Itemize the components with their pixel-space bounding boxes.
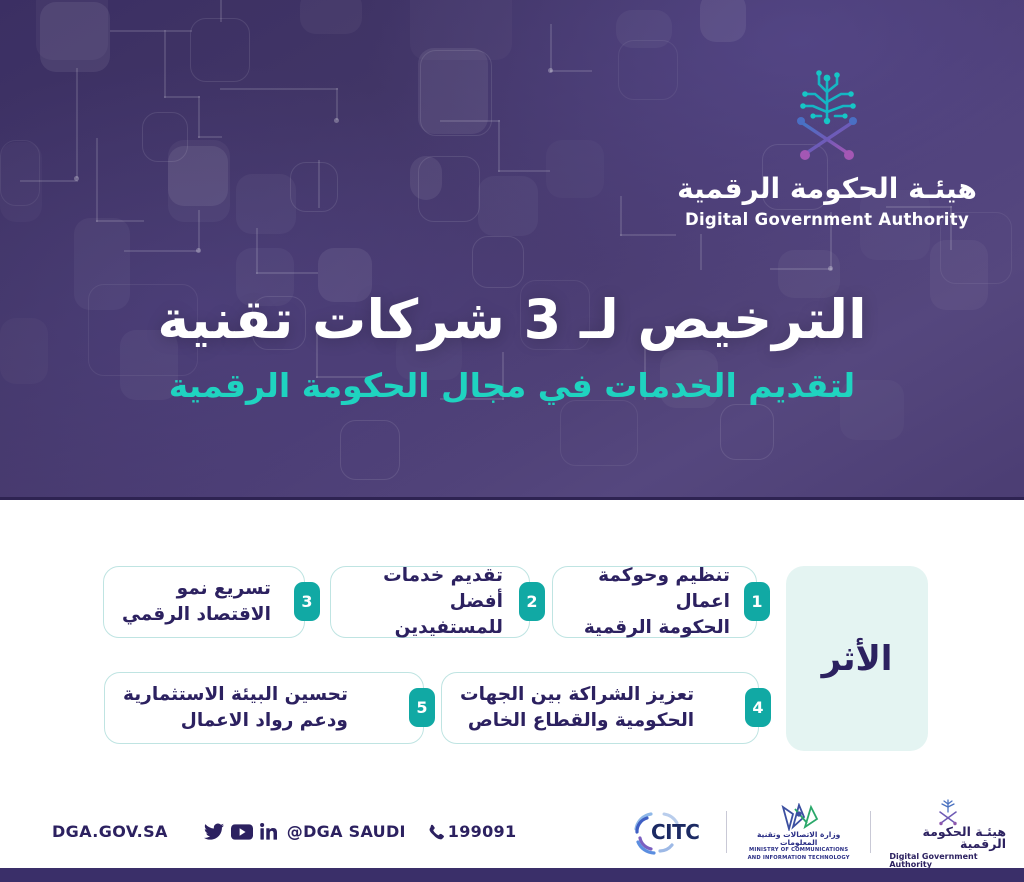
dga-footer-english: Digital Government Authority bbox=[889, 853, 1006, 869]
citc-logo-mark: CITC bbox=[630, 807, 708, 857]
impact-card-2-text: تقديم خدمات أفضل للمستفيدين bbox=[349, 563, 503, 642]
impact-card-5-text: تحسين البيئة الاستثمارية ودعم رواد الاعم… bbox=[123, 682, 348, 735]
website-link[interactable]: DGA.GOV.SA bbox=[52, 822, 168, 841]
linkedin-icon[interactable] bbox=[260, 823, 277, 840]
header-banner: هيئـة الحكومة الرقمية Digital Government… bbox=[0, 0, 1024, 500]
impact-card-1-text: تنظيم وحوكمة اعمال الحكومة الرقمية bbox=[571, 563, 730, 642]
page-subtitle: لتقديم الخدمات في مجال الحكومة الرقمية bbox=[0, 366, 1024, 406]
impact-card-4-badge: 4 bbox=[745, 688, 771, 727]
phone-contact: 199091 bbox=[428, 822, 517, 841]
twitter-icon[interactable] bbox=[204, 823, 224, 840]
mcit-logo: وزارة الاتصالات وتقنية المعلومات MINISTR… bbox=[727, 800, 871, 864]
mcit-emblem bbox=[777, 803, 821, 831]
impact-card-2[interactable]: تقديم خدمات أفضل للمستفيدين bbox=[330, 566, 530, 638]
mcit-english-line2: AND INFORMATION TECHNOLOGY bbox=[745, 856, 853, 861]
impact-card-5-badge: 5 bbox=[409, 688, 435, 727]
page-title: الترخيص لـ 3 شركات تقنية bbox=[0, 288, 1024, 352]
dga-footer-arabic: هيئـة الحكومة الرقمية bbox=[889, 826, 1006, 851]
impact-card-1[interactable]: تنظيم وحوكمة اعمال الحكومة الرقمية bbox=[552, 566, 757, 638]
impact-card-4-text: تعزيز الشراكة بين الجهات الحكومية والقطا… bbox=[460, 682, 694, 735]
mcit-english-line1: MINISTRY OF COMMUNICATIONS bbox=[745, 848, 853, 853]
dga-palm-swords-emblem bbox=[783, 62, 871, 160]
phone-number: 199091 bbox=[448, 822, 517, 841]
dga-logo-arabic-text: هيئـة الحكومة الرقمية bbox=[677, 174, 977, 205]
dga-logo-footer: هيئـة الحكومة الرقمية Digital Government… bbox=[871, 800, 1024, 864]
partner-logos: CITC وزارة الاتصالات وتقنية المعلومات MI… bbox=[612, 800, 1024, 864]
citc-logo: CITC bbox=[612, 800, 726, 864]
impact-card-5[interactable]: تحسين البيئة الاستثمارية ودعم رواد الاعم… bbox=[104, 672, 424, 744]
impact-title: الأثر bbox=[822, 639, 893, 679]
social-icons-group bbox=[204, 823, 277, 840]
impact-card-3-badge: 3 bbox=[294, 582, 320, 621]
impact-card-1-badge: 1 bbox=[744, 582, 770, 621]
mcit-arabic-text: وزارة الاتصالات وتقنية المعلومات bbox=[745, 831, 853, 847]
impact-card-2-badge: 2 bbox=[519, 582, 545, 621]
footer-contact-bar: DGA.GOV.SA @DGA SAUDI 199091 bbox=[52, 822, 516, 841]
svg-text:CITC: CITC bbox=[651, 820, 699, 844]
youtube-icon[interactable] bbox=[231, 824, 253, 840]
impact-card-3[interactable]: تسريع نمو الاقتصاد الرقمي bbox=[103, 566, 305, 638]
headline-block: الترخيص لـ 3 شركات تقنية لتقديم الخدمات … bbox=[0, 288, 1024, 405]
impact-title-box: الأثر bbox=[786, 566, 928, 751]
phone-icon bbox=[428, 824, 444, 840]
infographic-poster: هيئـة الحكومة الرقمية Digital Government… bbox=[0, 0, 1024, 882]
impact-card-3-text: تسريع نمو الاقتصاد الرقمي bbox=[122, 576, 271, 629]
dga-footer-emblem bbox=[933, 796, 963, 826]
social-handle: @DGA SAUDI bbox=[287, 822, 406, 841]
impact-card-4[interactable]: تعزيز الشراكة بين الجهات الحكومية والقطا… bbox=[441, 672, 759, 744]
bottom-bar bbox=[0, 868, 1024, 882]
dga-logo-header: هيئـة الحكومة الرقمية Digital Government… bbox=[677, 62, 977, 229]
dga-logo-english-text: Digital Government Authority bbox=[677, 210, 977, 229]
